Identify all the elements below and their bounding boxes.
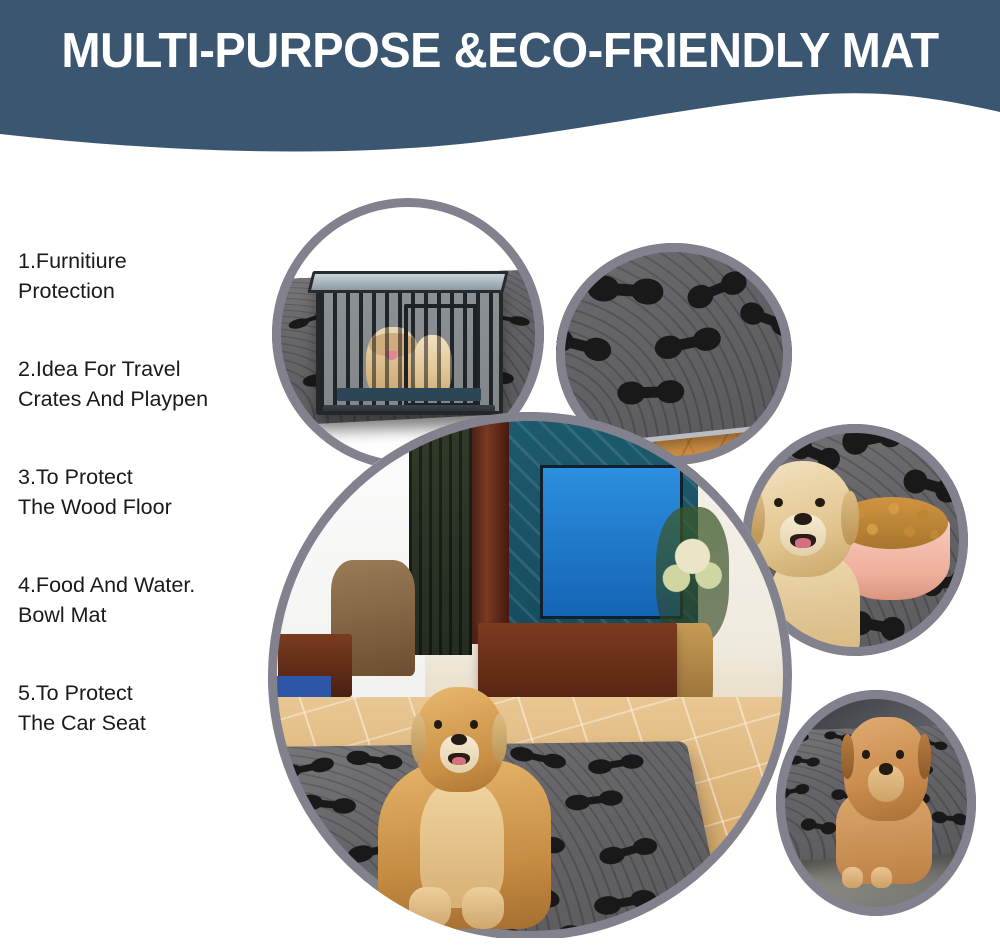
- feature-item-1: 1.Furnitiure Protection: [18, 246, 286, 306]
- page-title: MULTI-PURPOSE &ECO-FRIENDLY MAT: [20, 22, 980, 80]
- bone-icon: [747, 308, 787, 331]
- puppy-head: [844, 717, 928, 821]
- bone-icon: [628, 386, 674, 399]
- dog-eye-right: [815, 498, 824, 507]
- dog-crate: [316, 280, 504, 416]
- bone-icon: [607, 842, 649, 860]
- dog-eye-right: [470, 720, 478, 728]
- bone-icon: [793, 758, 815, 764]
- puppy-paw-right: [871, 867, 892, 888]
- photo-bubble-car-seat: [776, 690, 976, 916]
- bone-icon: [596, 758, 636, 771]
- bottom-margin: [0, 938, 1000, 946]
- dog-tongue: [452, 757, 466, 766]
- feature-list: 1.Furnitiure Protection 2.Idea For Trave…: [18, 246, 286, 738]
- bone-icon: [851, 427, 894, 447]
- bone-icon: [556, 243, 599, 252]
- photo-bubble-living-room: [268, 412, 792, 940]
- car-seat-scene: [776, 690, 976, 916]
- dog-snout: [440, 735, 479, 773]
- bone-icon: [355, 755, 395, 767]
- dog-eye-left: [434, 720, 442, 728]
- product-infographic: MULTI-PURPOSE &ECO-FRIENDLY MAT 1.Furnit…: [0, 0, 1000, 946]
- puppy-snout: [868, 765, 905, 802]
- bone-icon: [604, 894, 649, 910]
- puppy-nose: [879, 763, 894, 774]
- dog-mouth: [790, 534, 816, 548]
- crate-roof: [307, 271, 509, 293]
- bone-icon: [556, 334, 602, 356]
- bone-icon: [599, 283, 651, 298]
- room-curtain: [409, 412, 472, 655]
- bone-icon: [285, 762, 325, 777]
- dog-mouth: [448, 753, 470, 766]
- bone-icon: [783, 735, 804, 744]
- bone-icon: [305, 890, 350, 905]
- right-margin: [976, 160, 1000, 946]
- puppy-eye-right: [896, 750, 904, 758]
- dog-ear-left: [411, 714, 426, 763]
- dog-tongue: [795, 538, 811, 547]
- dog-nose: [451, 734, 467, 745]
- crate-tray: [337, 388, 481, 401]
- living-room-scene: [268, 412, 792, 940]
- bone-icon: [912, 475, 952, 496]
- dog-head: [415, 687, 504, 793]
- bone-icon: [518, 751, 557, 766]
- feature-item-3: 3.To Protect The Wood Floor: [18, 462, 286, 522]
- bone-icon: [781, 786, 805, 795]
- bone-icon: [665, 334, 712, 354]
- bone-icon: [574, 794, 615, 806]
- bone-icon: [938, 814, 963, 822]
- feature-item-4: 4.Food And Water. Bowl Mat: [18, 570, 286, 630]
- dog-paw-left: [409, 887, 451, 929]
- bone-icon: [307, 799, 348, 810]
- dog-paw-right: [462, 887, 504, 929]
- feature-item-2: 2.Idea For Travel Crates And Playpen: [18, 354, 286, 414]
- puppy-paw-left: [842, 867, 863, 888]
- bone-icon: [268, 840, 307, 856]
- puppy-ear-left: [841, 734, 854, 780]
- bone-icon: [857, 617, 897, 635]
- feature-item-5: 5.To Protect The Car Seat: [18, 678, 286, 738]
- dog-nose: [794, 513, 812, 526]
- bone-icon: [696, 278, 739, 304]
- puppy-eye-left: [862, 750, 870, 758]
- header-banner: MULTI-PURPOSE &ECO-FRIENDLY MAT: [0, 0, 1000, 160]
- room-column: [472, 412, 509, 644]
- dog-ear-right: [841, 491, 859, 544]
- bone-icon: [806, 821, 832, 831]
